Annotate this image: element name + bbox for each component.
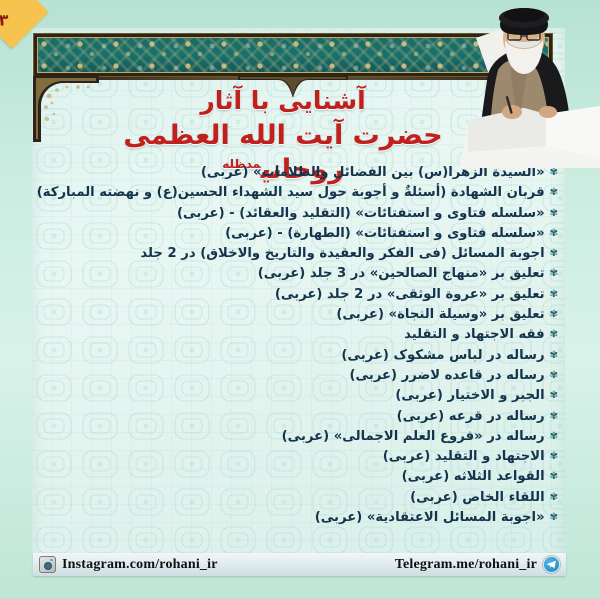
- bullet-icon: ✾: [550, 467, 558, 486]
- instagram-handle: Instagram.com/rohani_ir: [62, 557, 218, 573]
- list-item-label: قربان الشهادة (أسئلةٌ و أجوبة حول سید ال…: [37, 185, 545, 200]
- list-item: ✾فقه الاجتهاد و التقلید: [40, 325, 560, 345]
- bullet-icon: ✾: [550, 244, 558, 263]
- telegram-icon: [543, 556, 560, 573]
- list-item-label: تعلیق بر «عروة الوثقی» در 2 جلد (عربی): [275, 287, 545, 302]
- list-item-label: تعلیق بر «منهاج الصالحین» در 3 جلد (عربی…: [258, 266, 545, 281]
- list-item: ✾رساله در قاعده لاضرر (عربی): [40, 366, 560, 386]
- telegram-handle: Telegram.me/rohani_ir: [395, 557, 537, 573]
- bullet-icon: ✾: [550, 488, 558, 507]
- list-item-label: الاجتهاد و التقلید (عربی): [383, 449, 545, 464]
- list-item-label: «سلسله فتاوی و استفتائات» (التقلید والعق…: [177, 206, 545, 221]
- list-item: ✾«اجوبة المسائل الاعتقادیة» (عربی): [40, 508, 560, 528]
- list-item: ✾تعلیق بر «وسیلة النجاة» (عربی): [40, 305, 560, 325]
- list-item-label: اجوبة المسائل (فی الفکر والعقیدة والتاری…: [140, 246, 544, 261]
- title-line-1: آشنایی با آثار: [83, 85, 483, 116]
- list-item: ✾رساله در «فروع العلم الاجمالی» (عربی): [40, 427, 560, 447]
- list-item-label: فقه الاجتهاد و التقلید: [404, 327, 544, 342]
- works-list: ✾«السیدة الزهرا(س) بین الفضائل والظلامات…: [40, 163, 560, 528]
- list-item: ✾تعلیق بر «عروة الوثقی» در 2 جلد (عربی): [40, 285, 560, 305]
- list-item: ✾القواعد الثلاثه (عربی): [40, 467, 560, 487]
- list-item-label: القواعد الثلاثه (عربی): [402, 469, 545, 484]
- bullet-icon: ✾: [550, 508, 558, 527]
- list-item-label: «اجوبة المسائل الاعتقادیة» (عربی): [315, 510, 545, 525]
- instagram-icon: [39, 556, 56, 573]
- list-item-label: الجبر و الاختیار (عربی): [395, 388, 544, 403]
- list-item-label: رساله در قاعده لاضرر (عربی): [350, 368, 545, 383]
- bullet-icon: ✾: [550, 224, 558, 243]
- bullet-icon: ✾: [550, 366, 558, 385]
- list-item: ✾رساله در لباس مشکوک (عربی): [40, 346, 560, 366]
- list-item: ✾قربان الشهادة (أسئلةٌ و أجوبة حول سید ا…: [40, 183, 560, 203]
- list-item-label: رساله در قرعه (عربی): [397, 409, 545, 424]
- bullet-icon: ✾: [550, 305, 558, 324]
- bullet-icon: ✾: [550, 285, 558, 304]
- list-item: ✾رساله در قرعه (عربی): [40, 407, 560, 427]
- footer-bar: Instagram.com/rohani_ir Telegram.me/roha…: [33, 553, 566, 576]
- bullet-icon: ✾: [550, 325, 558, 344]
- page-number-text: ۳: [0, 0, 34, 47]
- portrait-photo: [450, 8, 600, 168]
- bullet-icon: ✾: [550, 204, 558, 223]
- list-item-label: اللقاء الخاص (عربی): [410, 490, 544, 505]
- list-item: ✾اللقاء الخاص (عربی): [40, 488, 560, 508]
- instagram-link[interactable]: Instagram.com/rohani_ir: [39, 556, 218, 573]
- list-item-label: رساله در لباس مشکوک (عربی): [341, 348, 544, 363]
- bullet-icon: ✾: [550, 346, 558, 365]
- list-item: ✾الاجتهاد و التقلید (عربی): [40, 447, 560, 467]
- poster-root: ۳ آشنایی با آثار حضرت آیت: [0, 0, 600, 599]
- list-item: ✾«سلسله فتاوی و استفتائات» (التقلید والع…: [40, 204, 560, 224]
- bullet-icon: ✾: [550, 427, 558, 446]
- list-item: ✾اجوبة المسائل (فی الفکر والعقیدة والتار…: [40, 244, 560, 264]
- bullet-icon: ✾: [550, 407, 558, 426]
- list-item-label: تعلیق بر «وسیلة النجاة» (عربی): [336, 307, 544, 322]
- list-item-label: «سلسله فتاوی و استفتائات» (الطهارة) - (ع…: [225, 226, 544, 241]
- bullet-icon: ✾: [550, 447, 558, 466]
- list-item-label: رساله در «فروع العلم الاجمالی» (عربی): [282, 429, 545, 444]
- list-item: ✾تعلیق بر «منهاج الصالحین» در 3 جلد (عرب…: [40, 264, 560, 284]
- list-item: ✾الجبر و الاختیار (عربی): [40, 386, 560, 406]
- bullet-icon: ✾: [550, 386, 558, 405]
- bullet-icon: ✾: [550, 183, 558, 202]
- bullet-icon: ✾: [550, 264, 558, 283]
- list-item: ✾«سلسله فتاوی و استفتائات» (الطهارة) - (…: [40, 224, 560, 244]
- telegram-link[interactable]: Telegram.me/rohani_ir: [395, 556, 560, 573]
